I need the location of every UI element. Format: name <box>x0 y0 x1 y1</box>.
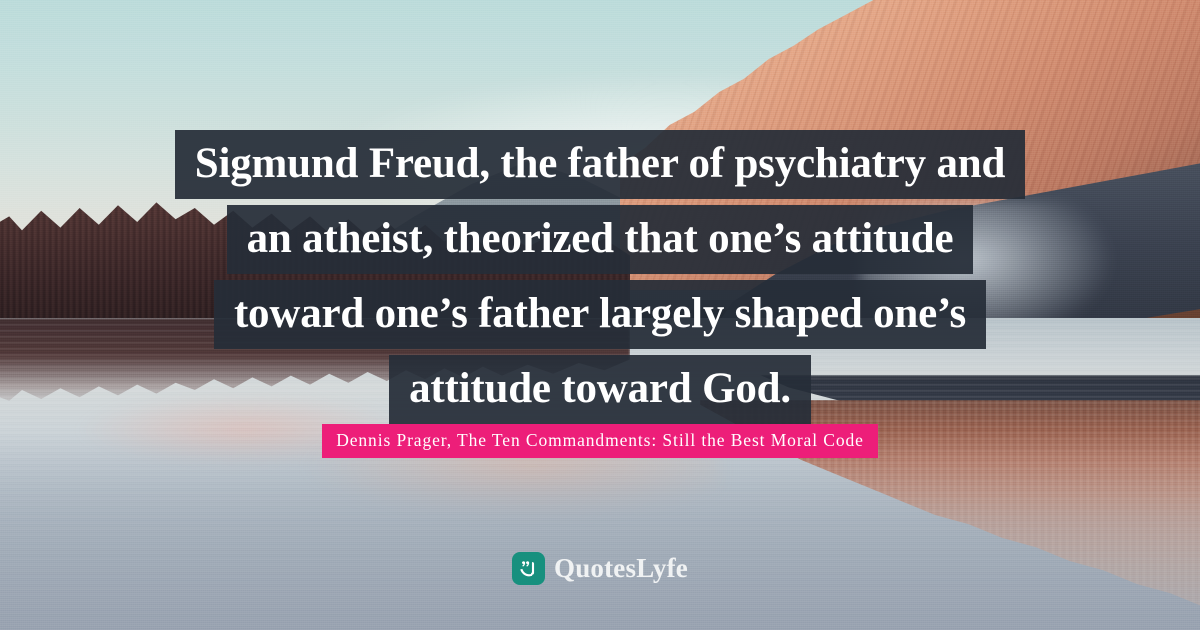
bottom-vignette <box>0 430 1200 630</box>
brand-name: QuotesLyfe <box>554 555 688 582</box>
quote-smiley-icon <box>512 552 545 585</box>
attribution-banner: Dennis Prager, The Ten Commandments: Sti… <box>0 424 1200 458</box>
quote-card: Sigmund Freud, the father of psychiatry … <box>0 0 1200 630</box>
quote-text: Sigmund Freud, the father of psychiatry … <box>0 130 1200 430</box>
quote-line-2: an atheist, theorized that one’s attitud… <box>227 205 974 274</box>
quote-line-1: Sigmund Freud, the father of psychiatry … <box>175 130 1025 199</box>
brand-logo[interactable]: QuotesLyfe <box>0 552 1200 585</box>
attribution-text: Dennis Prager, The Ten Commandments: Sti… <box>322 424 878 458</box>
quote-line-3: toward one’s father largely shaped one’s <box>214 280 986 349</box>
quote-line-4: attitude toward God. <box>389 355 811 424</box>
